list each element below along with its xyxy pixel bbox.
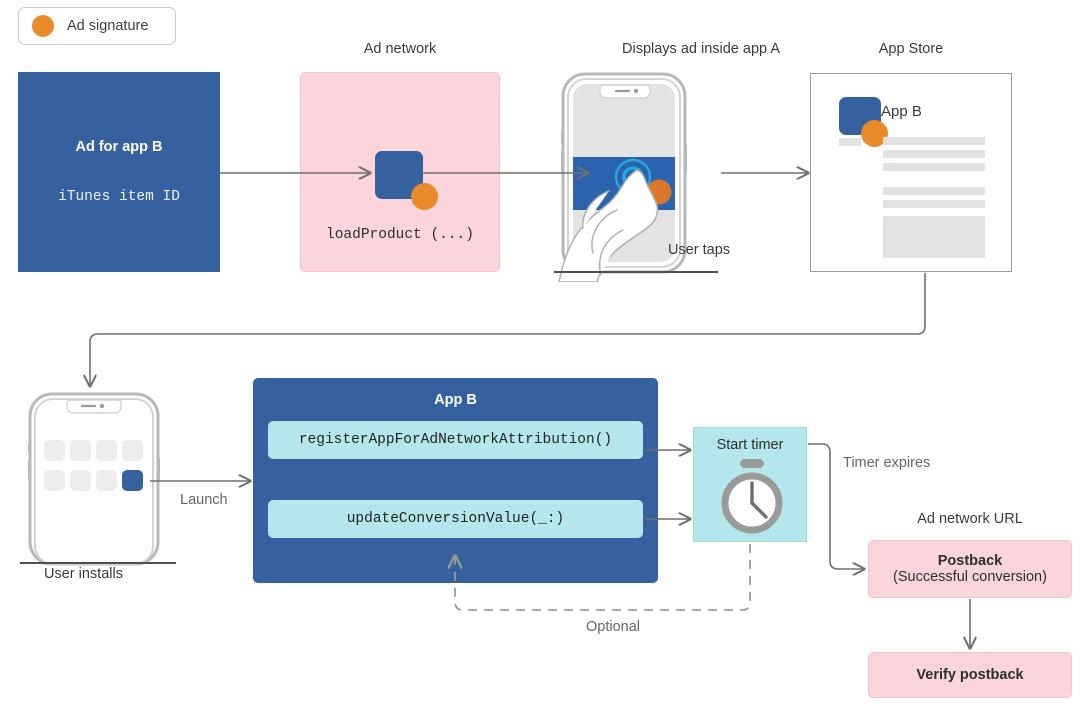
ad-signature-dot-icon xyxy=(411,183,438,210)
skeleton-bar xyxy=(883,150,985,158)
stopwatch-icon xyxy=(717,458,787,536)
start-timer-label: Start timer xyxy=(694,437,806,453)
caption-app-store: App Store xyxy=(810,41,1012,57)
skeleton-block xyxy=(883,216,985,258)
verify-postback-box: Verify postback xyxy=(868,652,1072,698)
ad-box-title: Ad for app B xyxy=(76,139,163,155)
skeleton-bar xyxy=(883,187,985,195)
caption-ad-network: Ad network xyxy=(300,41,500,57)
legend-label: Ad signature xyxy=(67,18,148,34)
ad-network-code: loadProduct (...) xyxy=(301,227,499,243)
skeleton-bar xyxy=(883,137,985,145)
start-timer-box: Start timer xyxy=(693,427,807,542)
phone-home-screen xyxy=(18,390,178,580)
app-store-card: App B xyxy=(810,73,1012,272)
api-update-conversion-value[interactable]: updateConversionValue(_:) xyxy=(268,500,643,538)
app-b-title: App B xyxy=(253,392,658,408)
connector-appstore-to-install xyxy=(90,273,925,386)
ad-box-subtitle: iTunes item ID xyxy=(58,189,180,205)
skeleton-bar xyxy=(839,138,861,146)
edge-label-timer-expires: Timer expires xyxy=(843,455,930,471)
ad-signature-dot-icon xyxy=(32,15,54,37)
caption-ad-network-url: Ad network URL xyxy=(868,511,1072,527)
edge-label-launch: Launch xyxy=(180,492,228,508)
ad-network-box: loadProduct (...) xyxy=(300,72,500,272)
caption-user-installs: User installs xyxy=(44,566,123,582)
store-app-name: App B xyxy=(881,103,922,120)
app-b-panel: App B registerAppForAdNetworkAttribution… xyxy=(253,378,658,583)
caption-user-taps: User taps xyxy=(668,242,730,258)
skeleton-bar xyxy=(883,200,985,208)
api-register-app-for-ad-network-attribution[interactable]: registerAppForAdNetworkAttribution() xyxy=(268,421,643,459)
postback-title: Postback xyxy=(938,553,1002,569)
postback-box: Postback (Successful conversion) xyxy=(868,540,1072,598)
legend-ad-signature: Ad signature xyxy=(18,7,176,45)
postback-subtitle: (Successful conversion) xyxy=(893,569,1047,585)
verify-postback-title: Verify postback xyxy=(916,667,1023,683)
ad-for-app-b-box: Ad for app B iTunes item ID xyxy=(18,72,220,272)
diagram-canvas: Ad signature Ad network Displays ad insi… xyxy=(0,0,1080,713)
edge-label-optional: Optional xyxy=(586,619,640,635)
skeleton-bar xyxy=(883,163,985,171)
